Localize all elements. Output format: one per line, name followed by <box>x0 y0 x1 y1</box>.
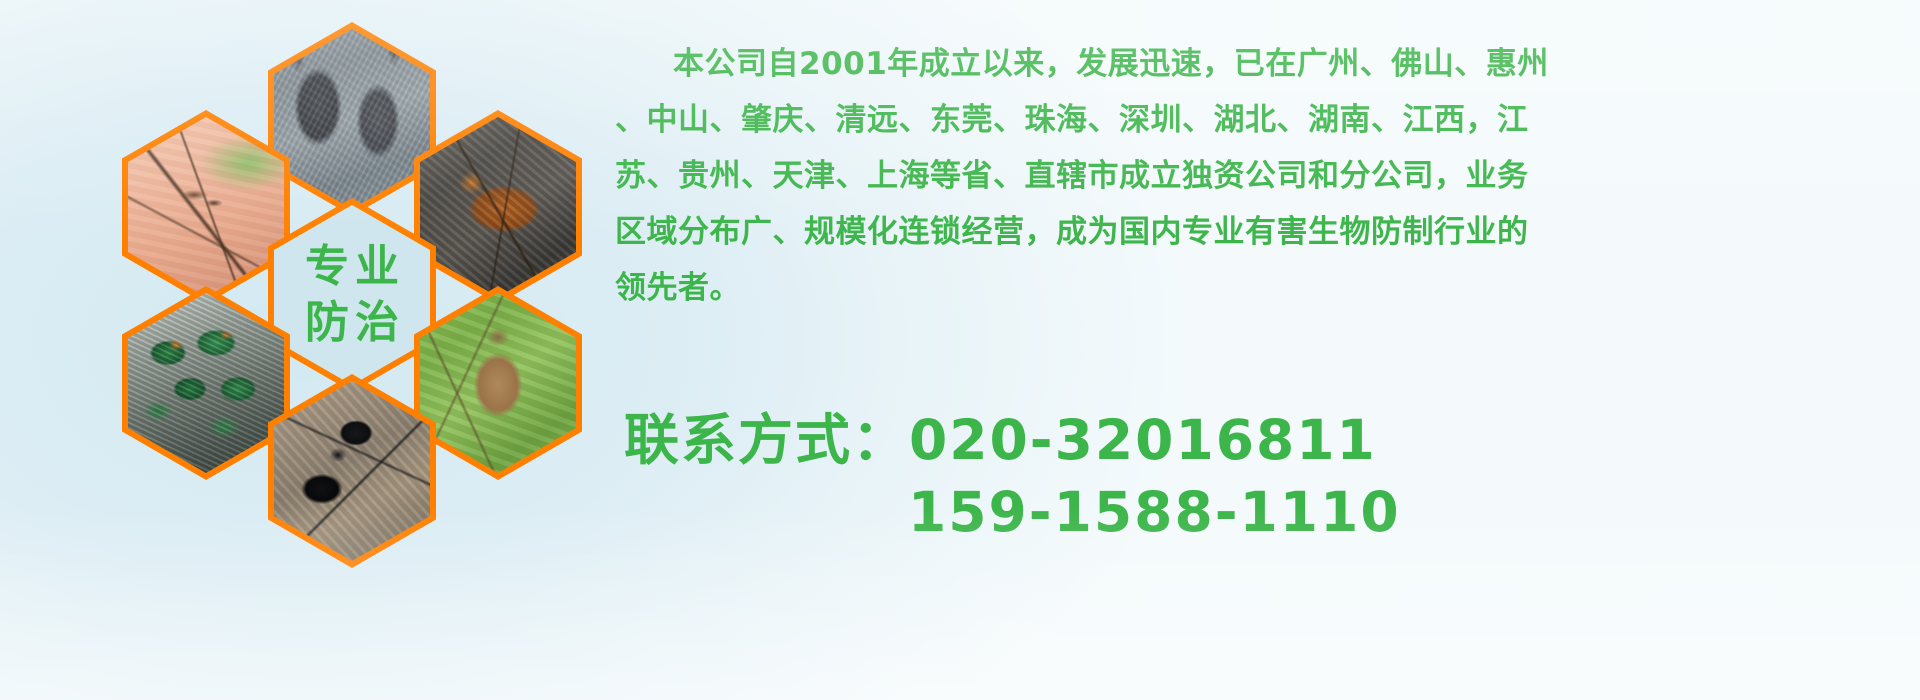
contact-phone-secondary[interactable]: 159-1588-1110 <box>624 476 1824 548</box>
logo-plate: 专业 防治 <box>274 205 430 385</box>
hex-inner-mosquito <box>128 117 284 297</box>
hex-cell-ant <box>268 374 436 568</box>
hex-cell-flies <box>122 286 290 480</box>
logo-line-1: 专业 <box>299 239 405 295</box>
hex-inner-stinkbug <box>420 293 576 473</box>
hex-inner-cockroach <box>420 117 576 297</box>
hex-inner-ant <box>274 381 430 561</box>
contact-phone-primary[interactable]: 联系方式：020-32016811 <box>624 404 1824 476</box>
honeycomb-image-cluster: 专业 防治 <box>86 6 586 566</box>
stinkbug-photo-icon <box>420 293 576 473</box>
cockroach-photo-icon <box>420 117 576 297</box>
promo-banner: 专业 防治 本公司自2001年成立以来，发展迅速，已在广州、佛山、惠州 、中山、… <box>0 0 1920 700</box>
hex-cell-stinkbug <box>414 286 582 480</box>
contact-block: 联系方式：020-32016811 159-1588-1110 <box>624 404 1824 548</box>
hex-inner-logo: 专业 防治 <box>274 205 430 385</box>
logo-line-2: 防治 <box>299 295 405 351</box>
hex-inner-rats <box>274 29 430 209</box>
hex-cell-logo: 专业 防治 <box>268 198 436 392</box>
mosquito-photo-icon <box>128 117 284 297</box>
hex-inner-flies <box>128 293 284 473</box>
hex-cell-mosquito <box>122 110 290 304</box>
hex-cell-cockroach <box>414 110 582 304</box>
intro-line-3: 苏、贵州、天津、上海等省、直辖市成立独资公司和分公司，业务 <box>615 148 1915 204</box>
intro-line-5: 领先者。 <box>615 260 1915 316</box>
intro-line-1: 本公司自2001年成立以来，发展迅速，已在广州、佛山、惠州 <box>615 36 1915 92</box>
hex-cell-rats <box>268 22 436 216</box>
ant-photo-icon <box>274 381 430 561</box>
intro-line-4: 区域分布广、规模化连锁经营，成为国内专业有害生物防制行业的 <box>615 204 1915 260</box>
rats-photo-icon <box>274 29 430 209</box>
company-intro-paragraph: 本公司自2001年成立以来，发展迅速，已在广州、佛山、惠州 、中山、肇庆、清远、… <box>615 36 1915 316</box>
intro-line-2: 、中山、肇庆、清远、东莞、珠海、深圳、湖北、湖南、江西，江 <box>615 92 1915 148</box>
flies-photo-icon <box>128 293 284 473</box>
